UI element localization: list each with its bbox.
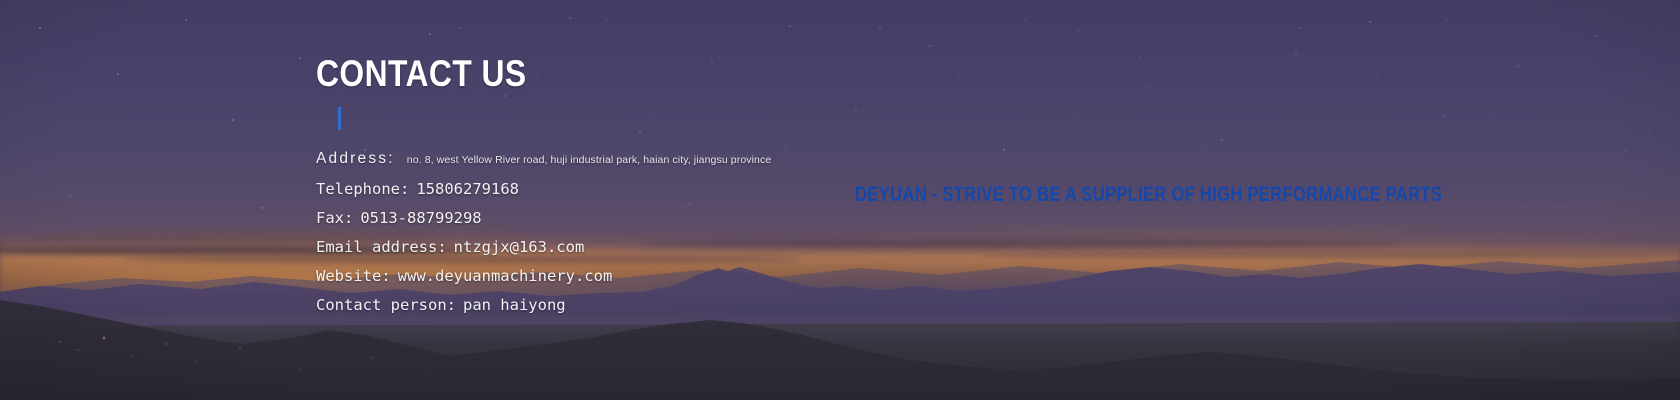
fax-label: Fax: (316, 207, 353, 229)
contact-person-value: pan haiyong (463, 294, 566, 316)
fax-value: 0513-88799298 (360, 207, 481, 229)
banner-content: CONTACT US Address: no. 8, west Yellow R… (0, 0, 1680, 400)
website-value[interactable]: www.deyuanmachinery.com (398, 265, 613, 287)
contact-row-address: Address: no. 8, west Yellow River road, … (316, 148, 876, 171)
telephone-label: Telephone: (316, 178, 409, 200)
contact-row-telephone: Telephone: 15806279168 (316, 178, 876, 200)
contact-person-label: Contact person: (316, 294, 456, 316)
telephone-value[interactable]: 15806279168 (416, 178, 519, 200)
contact-row-email: Email address: ntzgjx@163.com (316, 236, 876, 258)
address-label: Address: (316, 148, 395, 170)
website-label: Website: (316, 265, 391, 287)
email-value[interactable]: ntzgjx@163.com (454, 236, 585, 258)
email-label: Email address: (316, 236, 447, 258)
contact-details-list: Address: no. 8, west Yellow River road, … (316, 148, 876, 316)
title-accent-rule (338, 107, 341, 130)
page-title: CONTACT US (316, 54, 798, 94)
contact-block: CONTACT US Address: no. 8, west Yellow R… (316, 54, 876, 323)
contact-row-person: Contact person: pan haiyong (316, 294, 876, 316)
contact-row-fax: Fax: 0513-88799298 (316, 207, 876, 229)
contact-banner: CONTACT US Address: no. 8, west Yellow R… (0, 0, 1680, 400)
contact-row-website: Website: www.deyuanmachinery.com (316, 265, 876, 287)
address-value: no. 8, west Yellow River road, huji indu… (407, 149, 772, 171)
company-tagline: DEYUAN - STRIVE TO BE A SUPPLIER OF HIGH… (855, 183, 1442, 207)
